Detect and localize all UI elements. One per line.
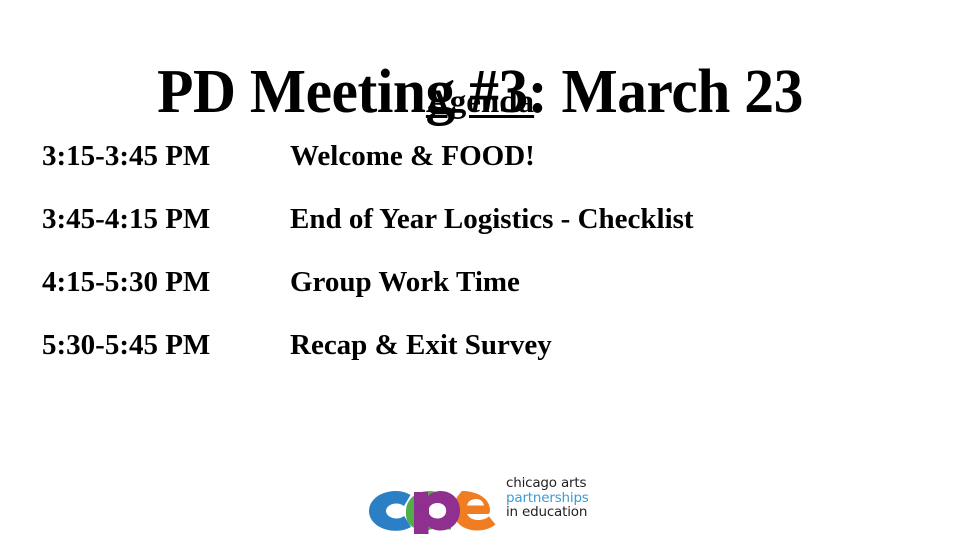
agenda-description-cell: Recap & Exit Survey <box>290 329 552 362</box>
logo-tagline-line-1: chicago arts <box>506 476 589 491</box>
agenda-description-cell: Group Work Time <box>290 266 520 299</box>
logo-tagline-line-2: partnerships <box>506 491 589 506</box>
slide-canvas: PD Meeting #3: March 23 Agenda 3:15-3:45… <box>0 0 960 540</box>
cape-logo: chicago arts partnerships in education <box>366 470 606 534</box>
agenda-description-cell: End of Year Logistics - Checklist <box>290 203 694 236</box>
table-row: 3:15-3:45 PM Welcome & FOOD! <box>0 140 960 203</box>
cape-wordmark-icon <box>366 470 508 534</box>
agenda-table: 3:15-3:45 PM Welcome & FOOD! 3:45-4:15 P… <box>0 140 960 392</box>
table-row: 5:30-5:45 PM Recap & Exit Survey <box>0 329 960 392</box>
table-row: 3:45-4:15 PM End of Year Logistics - Che… <box>0 203 960 266</box>
logo-tagline-line-3: in education <box>506 505 589 520</box>
agenda-time-cell: 4:15-5:30 PM <box>0 266 290 299</box>
agenda-heading: Agenda <box>0 84 960 120</box>
agenda-time-cell: 3:45-4:15 PM <box>0 203 290 236</box>
table-row: 4:15-5:30 PM Group Work Time <box>0 266 960 329</box>
agenda-time-cell: 3:15-3:45 PM <box>0 140 290 173</box>
logo-tagline: chicago arts partnerships in education <box>506 476 589 520</box>
agenda-time-cell: 5:30-5:45 PM <box>0 329 290 362</box>
agenda-description-cell: Welcome & FOOD! <box>290 140 535 173</box>
